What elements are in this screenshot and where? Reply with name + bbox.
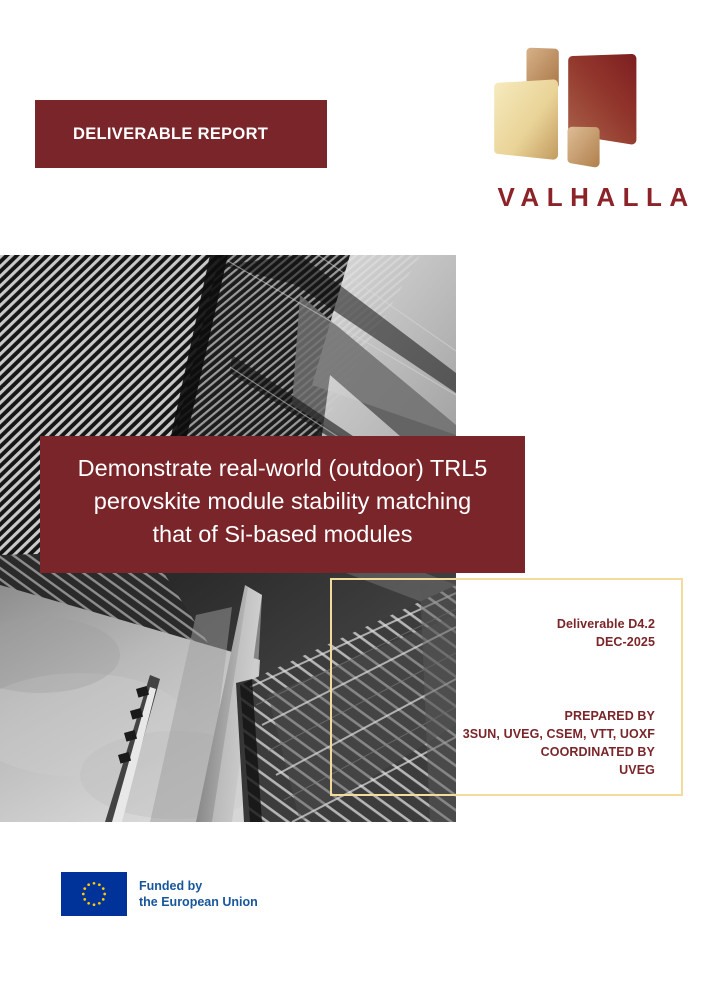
document-page: DELIVERABLE REPORT [0, 0, 710, 1005]
deliverable-id: Deliverable D4.2 [458, 615, 655, 633]
report-title-line-3: that of Si-based modules [153, 521, 413, 547]
valhalla-logo: VALHALLA [490, 45, 690, 225]
logo-tile-bottom-middle [568, 127, 600, 167]
prepared-by-partners: 3SUN, UVEG, CSEM, VTT, UOXF [458, 725, 655, 743]
deliverable-report-label: DELIVERABLE REPORT [35, 125, 268, 144]
eu-funding-text: Funded by the European Union [127, 872, 258, 916]
coordinated-by-partner: UVEG [458, 761, 655, 779]
valhalla-wordmark: VALHALLA [490, 180, 690, 214]
report-title: Demonstrate real-world (outdoor) TRL5 pe… [78, 452, 488, 551]
coordinated-by-label: COORDINATED BY [458, 743, 655, 761]
report-title-block: Demonstrate real-world (outdoor) TRL5 pe… [40, 436, 525, 573]
european-union-flag-icon [61, 872, 127, 916]
logo-tile-bottom-left [494, 79, 558, 159]
prepared-by-label: PREPARED BY [458, 707, 655, 725]
deliverable-date: DEC-2025 [458, 633, 655, 651]
eu-funding-line-1: Funded by [139, 878, 258, 894]
eu-funding-logo: Funded by the European Union [61, 872, 258, 916]
valhalla-tiles-logo [490, 45, 690, 180]
report-title-line-2: perovskite module stability matching [94, 488, 471, 514]
deliverable-info-panel: Deliverable D4.2 DEC-2025 PREPARED BY 3S… [458, 580, 681, 794]
info-spacer [458, 651, 655, 707]
eu-funding-line-2: the European Union [139, 894, 258, 910]
deliverable-report-badge: DELIVERABLE REPORT [35, 100, 327, 168]
report-title-line-1: Demonstrate real-world (outdoor) TRL5 [78, 455, 488, 481]
